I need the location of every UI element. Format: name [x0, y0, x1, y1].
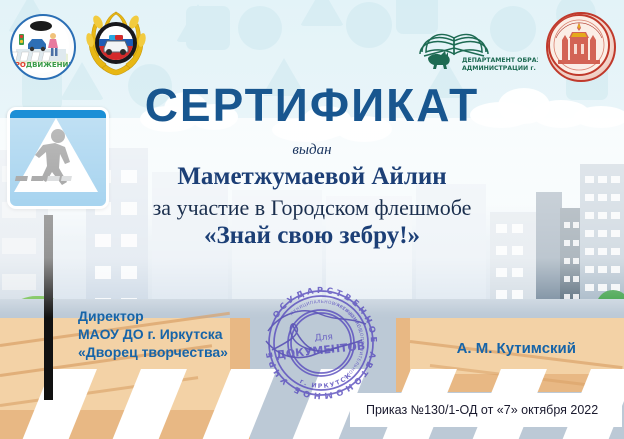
prodvizhenie-logo: ПРОДВИЖЕНИЕ: [10, 14, 76, 80]
signer-name: А. М. Кутимский: [457, 340, 576, 357]
event-name: «Знай свою зебру!»: [0, 222, 624, 250]
palace-of-creativity-emblem: [546, 12, 616, 82]
gibdd-icon: [84, 10, 148, 76]
certificate-title: СЕРТИФИКАТ: [0, 78, 624, 132]
director-block: Директор МАОУ ДО г. Иркутска «Дворец тво…: [78, 308, 228, 362]
director-title-line1: Директор: [78, 308, 228, 326]
issued-label: выдан: [0, 142, 624, 159]
official-stamp: ОСУДАРСТВЕННОЕ АВТОНОМНОЕ УЧРЕЖДЕНИЕ г. …: [262, 284, 380, 400]
svg-text:ПРОДВИЖЕНИЕ: ПРОДВИЖЕНИЕ: [12, 61, 70, 69]
participation-reason: за участие в Городском флешмобе: [0, 195, 624, 221]
prodvizhenie-icon: ПРОДВИЖЕНИЕ: [12, 16, 70, 74]
palace-icon: [548, 14, 610, 76]
open-book-icon: ДЕПАРТАМЕНТ ОБРАЗОВАНИЯ АДМИНИСТРАЦИИ г.…: [418, 22, 538, 76]
department-caption-line2: АДМИНИСТРАЦИИ г. ИРКУТСКА: [462, 65, 538, 72]
certificate-canvas: ПРОДВИЖЕНИЕ: [0, 0, 624, 439]
order-number-box: Приказ №130/1-ОД от «7» октября 2022: [350, 393, 622, 427]
department-of-education-logo: ДЕПАРТАМЕНТ ОБРАЗОВАНИЯ АДМИНИСТРАЦИИ г.…: [418, 22, 538, 76]
order-text: Приказ №130/1-ОД от «7» октября 2022: [350, 403, 598, 417]
director-title-line2: МАОУ ДО г. Иркутска: [78, 326, 228, 344]
department-caption-line1: ДЕПАРТАМЕНТ ОБРАЗОВАНИЯ: [462, 57, 538, 64]
gibdd-emblem: [84, 10, 148, 76]
director-title-line3: «Дворец творчества»: [78, 344, 228, 362]
recipient-name: Маметжумаевой Айлин: [0, 163, 624, 191]
stamp-center-line1: Для: [314, 332, 333, 343]
